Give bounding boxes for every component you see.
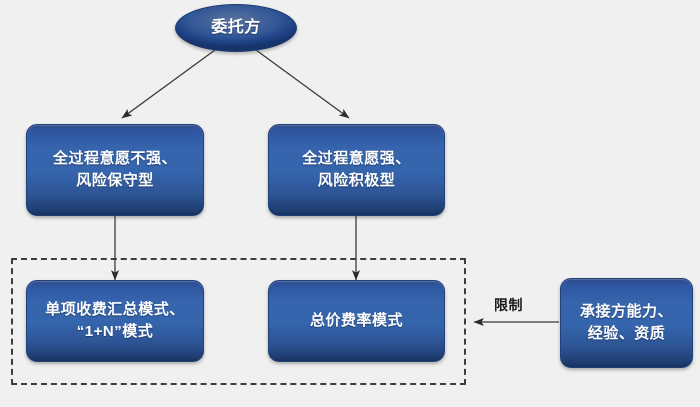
node-strong-aggressive-label: 全过程意愿强、 风险积极型 xyxy=(296,148,417,192)
node-weak-conservative[interactable]: 全过程意愿不强、 风险保守型 xyxy=(26,124,204,216)
node-lumpsum-mode-label: 总价费率模式 xyxy=(304,310,409,332)
node-weak-conservative-label: 全过程意愿不强、 风险保守型 xyxy=(47,148,183,192)
node-itemized-mode[interactable]: 单项收费汇总模式、 “1+N”模式 xyxy=(26,280,204,362)
node-strong-aggressive[interactable]: 全过程意愿强、 风险积极型 xyxy=(268,124,445,216)
node-contractor-capability[interactable]: 承接方能力、 经验、资质 xyxy=(560,278,693,368)
node-contractor-capability-label: 承接方能力、 经验、资质 xyxy=(574,301,679,345)
node-client[interactable]: 委托方 xyxy=(175,4,297,52)
edge-client-to-weak-conservative xyxy=(122,50,215,118)
node-itemized-mode-label: 单项收费汇总模式、 “1+N”模式 xyxy=(39,299,191,343)
node-lumpsum-mode[interactable]: 总价费率模式 xyxy=(268,280,445,362)
diagram-canvas: 委托方 全过程意愿不强、 风险保守型 全过程意愿强、 风险积极型 单项收费汇总模… xyxy=(0,0,700,407)
edge-client-to-strong-aggressive xyxy=(256,50,349,118)
edge-label-constraint: 限制 xyxy=(494,295,523,315)
node-client-label: 委托方 xyxy=(205,16,267,39)
